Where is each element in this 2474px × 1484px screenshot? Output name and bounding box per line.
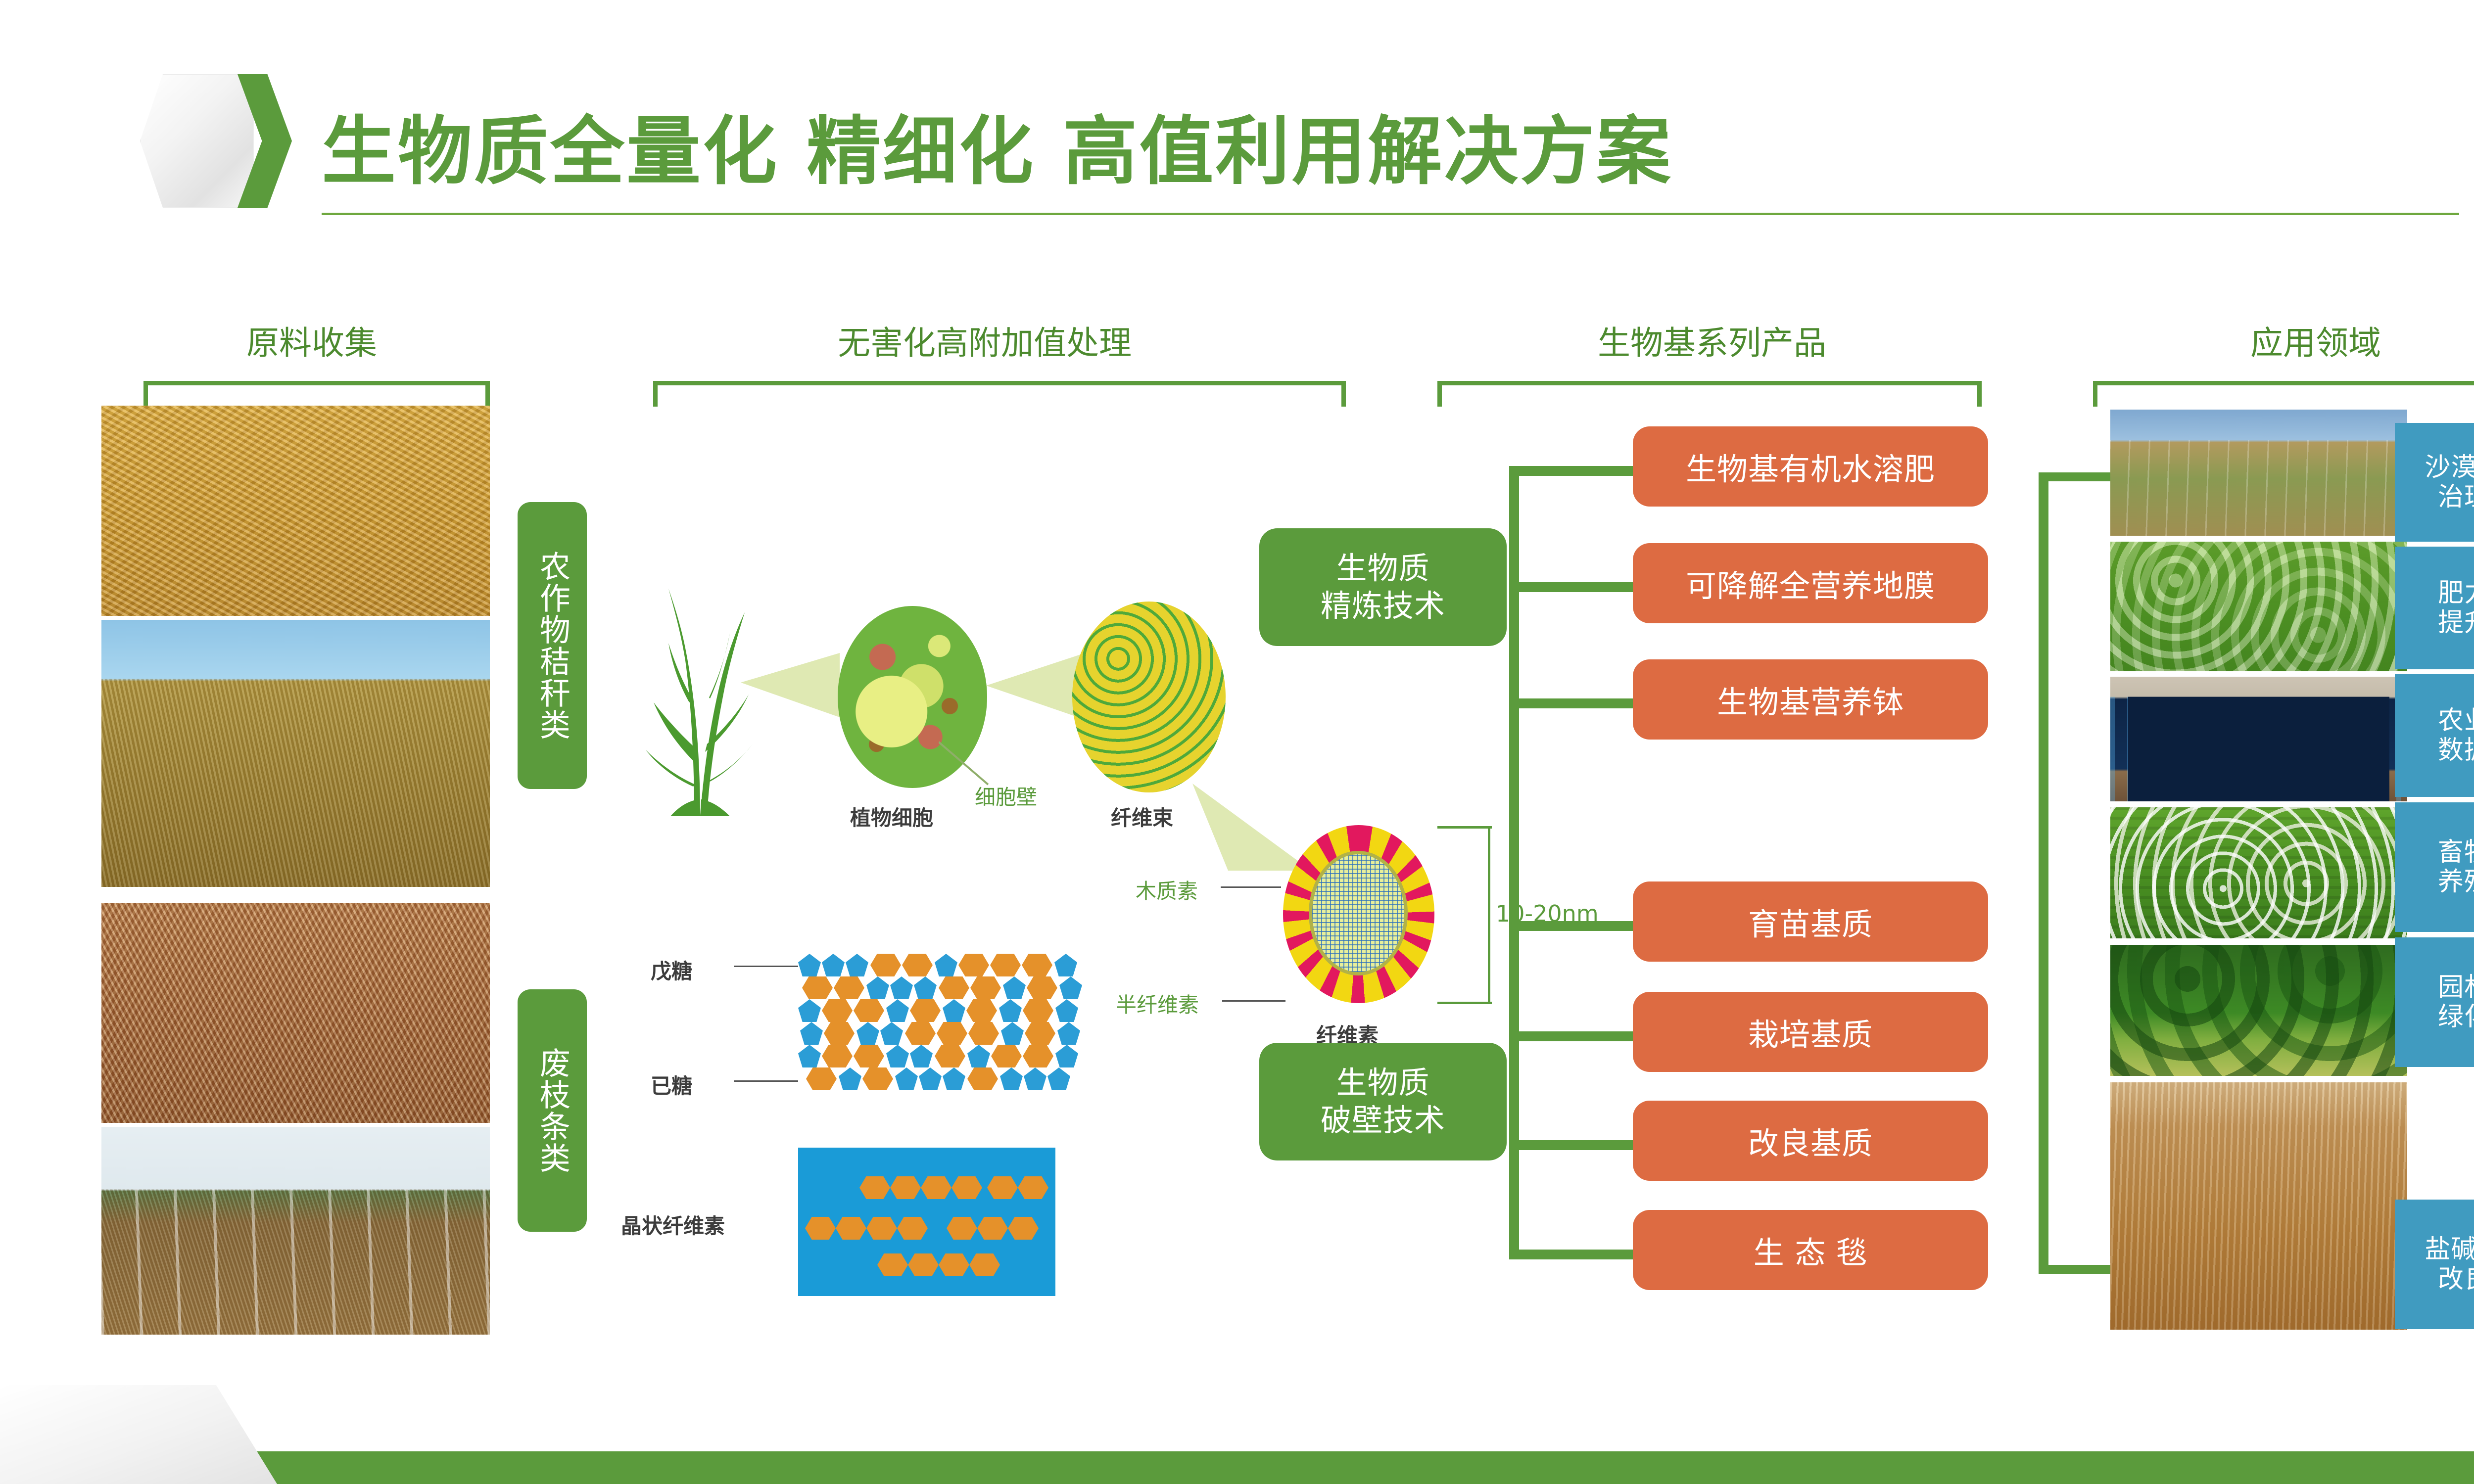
hexagon-badge-icon: [140, 74, 254, 208]
dimension-top-tick: [1437, 826, 1492, 829]
connector-refining-branch-2: [1509, 582, 1635, 592]
photo-park-trees: [2110, 945, 2407, 1076]
application-label-fertility-enhancement[interactable]: 肥力 提升: [2395, 547, 2474, 669]
tech-refining-line1: 生物质: [1336, 550, 1429, 586]
tech-breaking-line1: 生物质: [1336, 1065, 1429, 1101]
magnify-cone-3: [1192, 772, 1311, 871]
connector-breaking-branch-1: [1509, 921, 1635, 931]
tech-breaking-line2: 破壁技术: [1321, 1102, 1445, 1138]
photo-saline-soil: [2110, 1082, 2407, 1330]
label-cell-wall: 细胞壁: [975, 781, 1037, 811]
connector-refining-branch-1: [1509, 466, 1635, 476]
application-label-desertification-control[interactable]: 沙漠化 治理: [2395, 423, 2474, 542]
app-fertility-line1: 肥力: [2438, 578, 2474, 608]
column-header-raw-material-collection: 原料收集: [153, 317, 470, 364]
bracket-raw-material-collection: [143, 381, 490, 407]
page-title: 生物质全量化 精细化 高值利用解决方案: [322, 92, 1672, 199]
photo-straw-bales-field: [101, 620, 490, 887]
magnify-cone-2: [986, 653, 1081, 718]
app-livestock-line2: 养殖: [2438, 867, 2474, 897]
column-header-biobased-products: 生物基系列产品: [1435, 317, 1989, 364]
hemicellulose-leader-line: [1222, 1000, 1285, 1002]
application-bracket-spine: [2039, 472, 2048, 1274]
connector-breaking-spine: [1509, 921, 1519, 1259]
application-label-livestock-breeding[interactable]: 畜牧 养殖: [2395, 802, 2474, 932]
photo-dry-branches: [101, 903, 490, 1123]
photo-orchard-pruning: [101, 1127, 490, 1335]
tech-box-biomass-cell-wall-breaking[interactable]: 生物质 破壁技术: [1259, 1043, 1507, 1160]
product-cultivation-substrate[interactable]: 栽培基质: [1633, 992, 1988, 1072]
product-degradable-full-nutrient-mulch-film[interactable]: 可降解全营养地膜: [1633, 543, 1988, 623]
app-desert-line2: 治理: [2438, 482, 2474, 512]
sugar-chain-diagram: [798, 954, 1065, 1092]
app-greening-line1: 园林: [2438, 973, 2474, 1002]
crystalline-cellulose-diagram: [798, 1148, 1055, 1296]
product-improvement-substrate[interactable]: 改良基质: [1633, 1101, 1988, 1181]
photo-sheep-grazing: [2110, 807, 2407, 938]
fiber-bundle-diagram: [1072, 602, 1226, 792]
photo-corn-straw-field: [101, 406, 490, 616]
app-saline-line1: 盐碱地: [2425, 1235, 2474, 1264]
footer-bar: [0, 1451, 2474, 1484]
label-crystalline-cellulose: 晶状纤维素: [621, 1209, 725, 1240]
feedstock-tab-waste-branches[interactable]: 废枝条类: [518, 989, 587, 1232]
application-label-landscape-greening[interactable]: 园林 绿化: [2395, 937, 2474, 1067]
dimension-bottom-tick: [1437, 1002, 1492, 1004]
app-data-line2: 数据: [2438, 736, 2474, 765]
column-header-application-fields: 应用领域: [2093, 317, 2474, 364]
bracket-application-fields: [2093, 381, 2474, 407]
label-plant-cell: 植物细胞: [850, 801, 933, 832]
photo-cabbage-field: [2110, 542, 2407, 671]
connector-refining-spine: [1509, 466, 1519, 966]
dimension-vertical-line: [1488, 826, 1490, 1004]
photo-desert-restoration: [2110, 410, 2407, 536]
app-saline-line2: 改良: [2438, 1264, 2474, 1294]
pentose-leader-line: [734, 966, 798, 967]
title-divider: [322, 213, 2459, 215]
label-hemicellulose: 半纤维素: [1116, 988, 1199, 1019]
connector-breaking-branch-3: [1509, 1140, 1635, 1150]
app-fertility-line2: 提升: [2438, 608, 2474, 638]
app-data-line1: 农业: [2438, 706, 2474, 736]
lignin-leader-line: [1221, 886, 1281, 888]
product-seedling-substrate[interactable]: 育苗基质: [1633, 881, 1988, 962]
label-fiber-bundle: 纤维束: [1111, 801, 1173, 832]
hexose-leader-line: [734, 1080, 798, 1082]
bracket-biobased-products: [1437, 381, 1982, 407]
tech-refining-line2: 精炼技术: [1321, 588, 1445, 624]
application-label-agricultural-data[interactable]: 农业 数据: [2395, 674, 2474, 797]
application-label-saline-alkali-improvement[interactable]: 盐碱地 改良: [2395, 1200, 2474, 1329]
bracket-harmless-processing: [653, 381, 1346, 407]
cellulose-core: [1309, 851, 1408, 975]
label-pentose: 戊糖: [651, 955, 692, 985]
label-lignin: 木质素: [1136, 875, 1198, 905]
feedstock-tab-crop-straw[interactable]: 农作物秸秆类: [518, 502, 587, 789]
app-livestock-line1: 畜牧: [2438, 837, 2474, 867]
connector-refining-branch-3: [1509, 698, 1635, 708]
product-bio-based-nutrient-pot[interactable]: 生物基营养钵: [1633, 659, 1988, 740]
product-bio-organic-water-soluble-fertilizer[interactable]: 生物基有机水溶肥: [1633, 426, 1988, 507]
connector-breaking-branch-4: [1509, 1250, 1635, 1259]
connector-breaking-branch-2: [1509, 1031, 1635, 1041]
tech-box-biomass-refining[interactable]: 生物质 精炼技术: [1259, 528, 1507, 646]
column-header-harmless-processing: 无害化高附加值处理: [678, 317, 1291, 364]
label-hexose: 已糖: [651, 1069, 692, 1100]
app-desert-line1: 沙漠化: [2425, 453, 2474, 482]
photo-data-control-room: [2110, 677, 2407, 801]
app-greening-line2: 绿化: [2438, 1002, 2474, 1032]
page-header: 生物质全量化 精细化 高值利用解决方案: [0, 0, 2474, 237]
footer-wedge-decoration: [0, 1385, 277, 1484]
product-ecological-blanket[interactable]: 生 态 毯: [1633, 1210, 1988, 1290]
